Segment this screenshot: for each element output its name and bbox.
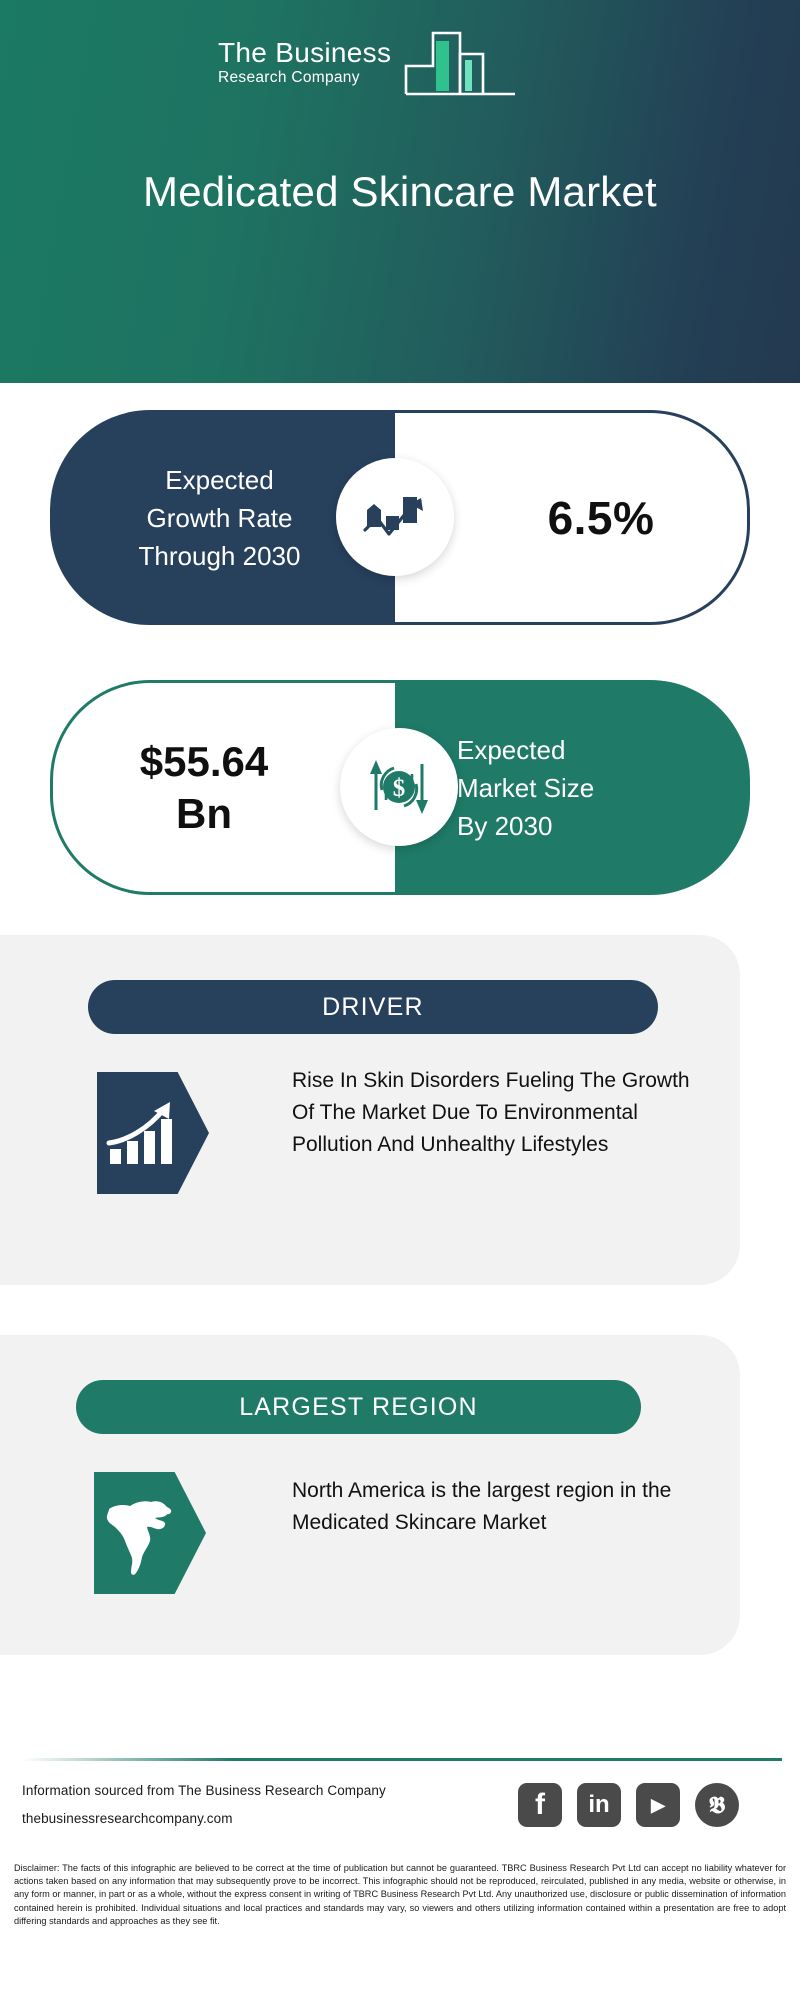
logo-line-1: The Business	[218, 38, 418, 68]
stat-card-label: Expected Growth Rate Through 2030	[139, 461, 307, 575]
facebook-glyph: f	[535, 1790, 545, 1820]
stat-card-value: 6.5%	[488, 491, 655, 545]
driver-heading-label: DRIVER	[322, 993, 424, 1022]
stat-card-growth-rate: Expected Growth Rate Through 2030 6.5%	[50, 410, 750, 625]
stat-value-line-1: $55.64	[140, 736, 268, 788]
x-twitter-glyph: 𝕭	[709, 1794, 725, 1817]
svg-text:$: $	[393, 775, 406, 802]
stat-card-market-size: $55.64 Bn Expected Market Size By 2030 $	[50, 680, 750, 895]
north-america-map-icon	[94, 1472, 206, 1594]
page-title: Medicated Skincare Market	[0, 168, 800, 216]
stat-label-line-3: By 2030	[457, 807, 750, 845]
bar-chart-logo-mark	[403, 28, 518, 105]
stat-card-value: $55.64 Bn	[140, 736, 308, 840]
dollar-cycle-icon: $	[340, 728, 458, 846]
linkedin-glyph: in	[588, 1793, 609, 1817]
facebook-icon[interactable]: f	[518, 1783, 562, 1827]
footer-divider	[22, 1758, 782, 1761]
largest-region-panel: LARGEST REGION North America is the larg…	[0, 1335, 740, 1655]
ascending-bars-arrow-icon	[97, 1072, 209, 1194]
company-logo: The Business Research Company	[218, 28, 518, 100]
logo-wordmark: The Business Research Company	[218, 38, 418, 88]
driver-heading-pill: DRIVER	[88, 980, 658, 1034]
logo-line-2: Research Company	[218, 68, 418, 88]
linkedin-icon[interactable]: in	[577, 1783, 621, 1827]
largest-region-heading-pill: LARGEST REGION	[76, 1380, 641, 1434]
youtube-icon[interactable]: ▶	[636, 1783, 680, 1827]
stat-label-line-2: Market Size	[457, 769, 750, 807]
header-banner: The Business Research Company Medicated …	[0, 0, 800, 383]
stat-value-line-2: Bn	[140, 788, 268, 840]
driver-panel: DRIVER Rise In Skin Disorders Fueling Th…	[0, 935, 740, 1285]
largest-region-body-text: North America is the largest region in t…	[292, 1475, 692, 1539]
stat-label-line-2: Growth Rate	[139, 499, 301, 537]
largest-region-heading-label: LARGEST REGION	[239, 1393, 478, 1422]
driver-body-text: Rise In Skin Disorders Fueling The Growt…	[292, 1065, 712, 1161]
stat-label-line-3: Through 2030	[139, 537, 301, 575]
growth-chart-icon	[336, 458, 454, 576]
footer-source-line-2[interactable]: thebusinessresearchcompany.com	[22, 1811, 233, 1826]
stat-label-line-1: Expected	[139, 461, 301, 499]
footer-disclaimer: Disclaimer: The facts of this infographi…	[14, 1862, 786, 1928]
footer-source-line-1: Information sourced from The Business Re…	[22, 1783, 386, 1798]
x-twitter-icon[interactable]: 𝕭	[695, 1783, 739, 1827]
stat-label-line-1: Expected	[457, 731, 750, 769]
youtube-glyph: ▶	[651, 1796, 665, 1814]
